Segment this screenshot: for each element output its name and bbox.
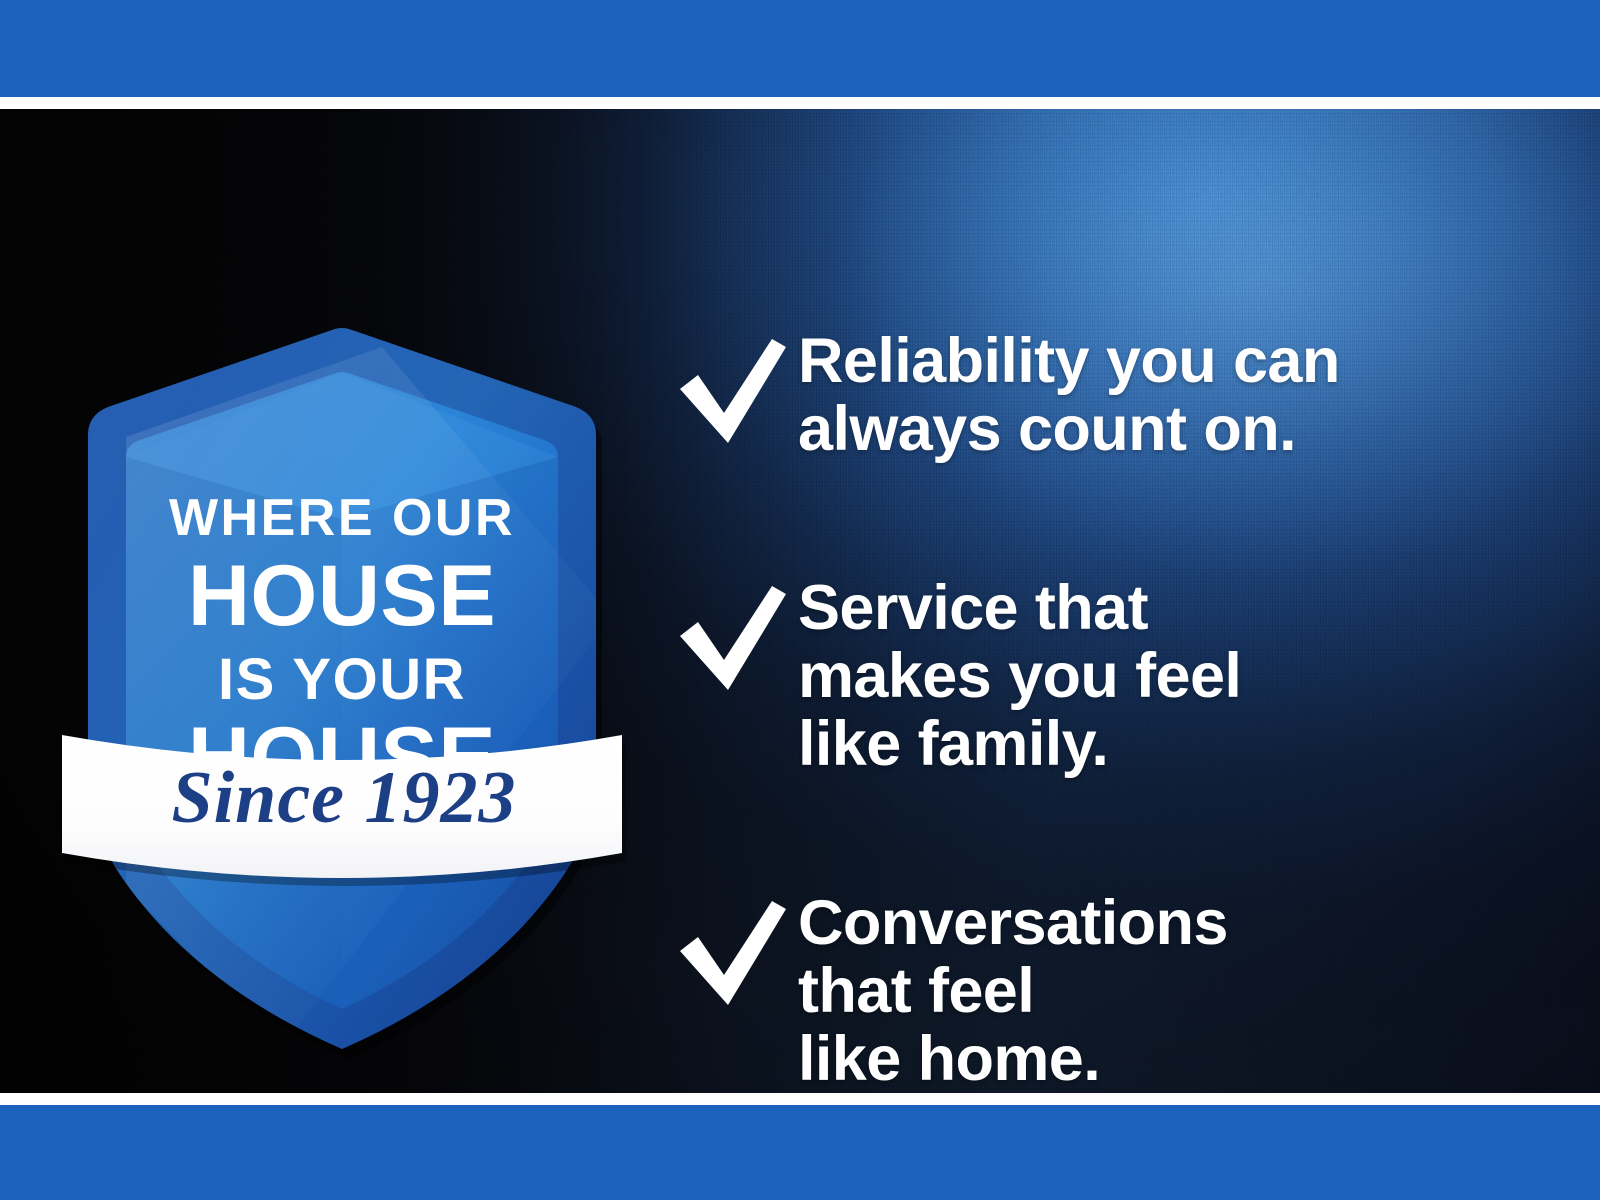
list-item: Service that makes you feel like family. [668, 574, 1241, 778]
shield-line-1: WHERE OUR [169, 489, 515, 547]
list-item: Conversations that feel like home. [668, 889, 1228, 1093]
brand-bar-bottom [0, 1105, 1600, 1200]
main-stage: WHERE OUR HOUSE IS YOUR HOUSE Since 1923 [0, 109, 1600, 1093]
shield-badge-icon: WHERE OUR HOUSE IS YOUR HOUSE Since 1923 [52, 287, 632, 937]
list-item-label: Reliability you can always count on. [798, 327, 1340, 463]
list-item: Reliability you can always count on. [668, 327, 1340, 463]
since-ribbon: Since 1923 [62, 735, 626, 886]
checkmark-icon [668, 578, 788, 698]
brand-bar-top [0, 0, 1600, 97]
list-item-label: Service that makes you feel like family. [798, 574, 1241, 778]
shield-line-2: HOUSE [188, 548, 496, 644]
list-item-label: Conversations that feel like home. [798, 889, 1228, 1093]
promo-graphic-canvas: WHERE OUR HOUSE IS YOUR HOUSE Since 1923 [0, 0, 1600, 1200]
ribbon-label: Since 1923 [171, 757, 516, 839]
shield-line-3: IS YOUR [218, 647, 466, 712]
checkmark-icon [668, 331, 788, 451]
checkmark-icon [668, 893, 788, 1013]
